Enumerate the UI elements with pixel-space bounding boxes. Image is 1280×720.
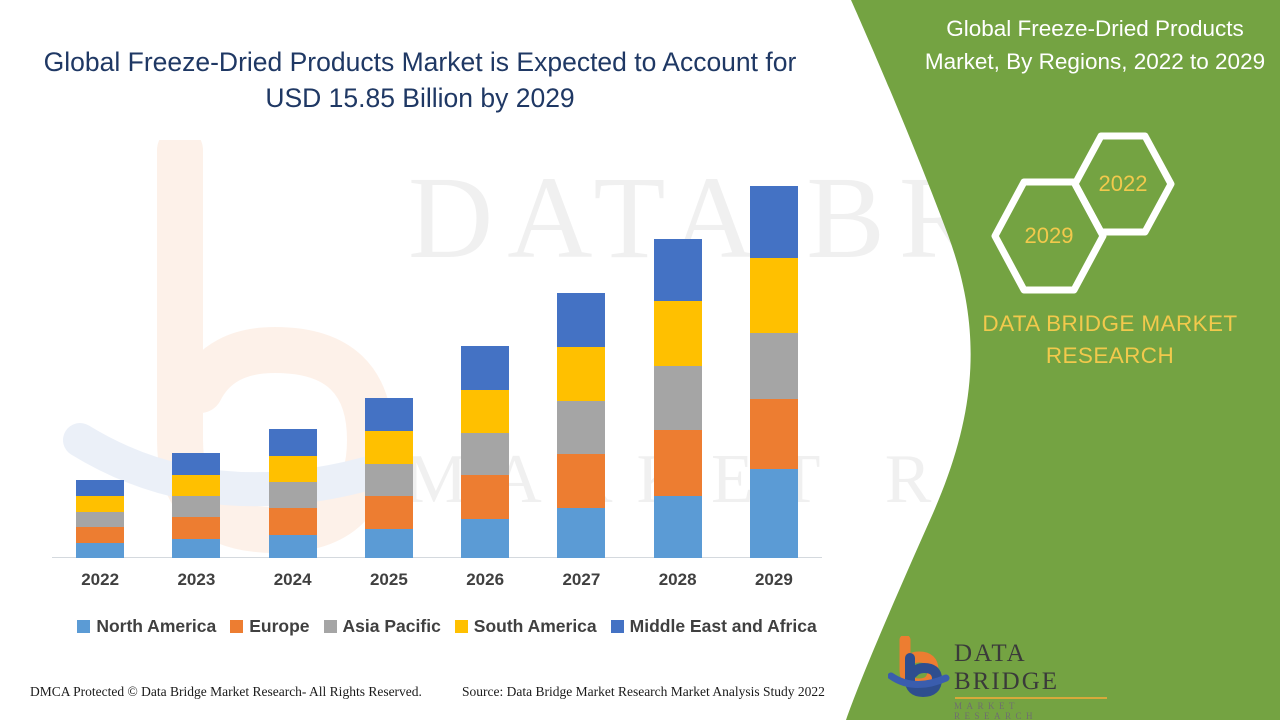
bar-segment-europe [461,475,509,519]
legend-item-middle-east-and-africa[interactable]: Middle East and Africa [611,616,817,637]
data-bridge-logo-icon [888,636,950,698]
bar-segment-south-america [557,347,605,401]
bar-column-2023 [148,150,244,558]
logo-primary-text: DATA BRIDGE [954,640,1107,696]
bar-column-2025 [341,150,437,558]
bar-segment-north-america [76,543,124,558]
bar-column-2029 [726,150,822,558]
bar-segment-south-america [654,301,702,366]
bar-segment-south-america [750,258,798,333]
hexagon-badge-2029: 2029 [988,176,1110,296]
stacked-bar-chart [52,150,822,558]
bar-segment-asia-pacific [269,482,317,508]
bar-segment-north-america [461,519,509,558]
stacked-bar [172,453,220,558]
logo-secondary-text: MARKET RESEARCH [954,701,1107,720]
hexagon-label-2022: 2022 [1099,171,1148,197]
bar-segment-europe [269,508,317,535]
legend-swatch-icon [230,620,243,633]
stacked-bar [365,398,413,558]
bar-segment-middle-east-and-africa [76,480,124,496]
infographic-canvas: DATA BRIDGE MARKET RESEARCH Global Freez… [0,0,1280,720]
bar-segment-middle-east-and-africa [269,429,317,456]
company-logo: DATA BRIDGE MARKET RESEARCH [888,636,1103,702]
stacked-bar [269,429,317,558]
bar-column-2028 [630,150,726,558]
legend-label: Asia Pacific [343,616,441,637]
x-axis-label-2027: 2027 [533,570,629,590]
bar-segment-asia-pacific [654,366,702,430]
chart-legend: North AmericaEuropeAsia PacificSouth Ame… [52,616,842,637]
bar-segment-middle-east-and-africa [750,186,798,258]
bar-segment-south-america [461,390,509,433]
bar-segment-south-america [269,456,317,482]
bar-segment-asia-pacific [76,512,124,527]
brand-name: DATA BRIDGE MARKET RESEARCH [960,308,1260,372]
bar-segment-south-america [76,496,124,512]
bar-segment-asia-pacific [750,333,798,399]
bar-segment-asia-pacific [172,496,220,517]
legend-swatch-icon [611,620,624,633]
bar-segment-south-america [365,431,413,464]
bar-column-2026 [437,150,533,558]
legend-label: South America [474,616,597,637]
legend-label: North America [96,616,216,637]
legend-label: Europe [249,616,309,637]
stacked-bar [76,480,124,558]
legend-item-north-america[interactable]: North America [77,616,216,637]
hexagon-label-2029: 2029 [1025,223,1074,249]
bar-segment-middle-east-and-africa [557,293,605,347]
panel-title: Global Freeze-Dried Products Market, By … [920,12,1270,78]
bar-column-2022 [52,150,148,558]
legend-item-asia-pacific[interactable]: Asia Pacific [324,616,441,637]
x-axis-label-2026: 2026 [437,570,533,590]
bar-segment-middle-east-and-africa [461,346,509,390]
bar-segment-europe [172,517,220,539]
stacked-bar [654,239,702,558]
bar-segment-north-america [557,508,605,558]
legend-swatch-icon [455,620,468,633]
page-title: Global Freeze-Dried Products Market is E… [40,44,800,116]
legend-swatch-icon [324,620,337,633]
bar-column-2027 [533,150,629,558]
x-axis-label-2022: 2022 [52,570,148,590]
logo-divider [955,697,1107,699]
chart-x-axis-labels: 20222023202420252026202720282029 [52,570,822,590]
bar-segment-middle-east-and-africa [172,453,220,475]
bar-segment-north-america [654,496,702,558]
year-hexagon-group: 2022 2029 [980,130,1210,295]
bar-segment-north-america [269,535,317,558]
bar-segment-north-america [365,529,413,558]
bar-column-2024 [245,150,341,558]
stacked-bar [750,186,798,558]
x-axis-label-2025: 2025 [341,570,437,590]
footer-copyright: DMCA Protected © Data Bridge Market Rese… [30,684,422,700]
bar-segment-europe [654,430,702,496]
legend-swatch-icon [77,620,90,633]
bar-segment-middle-east-and-africa [654,239,702,301]
x-axis-label-2029: 2029 [726,570,822,590]
bar-segment-asia-pacific [461,433,509,475]
bar-segment-middle-east-and-africa [365,398,413,431]
stacked-bar [557,293,605,558]
bar-segment-europe [557,454,605,508]
legend-label: Middle East and Africa [630,616,817,637]
logo-wordmark: DATA BRIDGE MARKET RESEARCH [954,640,1107,720]
bar-segment-north-america [750,469,798,558]
bar-segment-europe [750,399,798,469]
legend-item-south-america[interactable]: South America [455,616,597,637]
legend-item-europe[interactable]: Europe [230,616,309,637]
bar-segment-asia-pacific [557,401,605,454]
footer-source: Source: Data Bridge Market Research Mark… [462,684,825,700]
x-axis-label-2028: 2028 [630,570,726,590]
bar-segment-asia-pacific [365,464,413,496]
x-axis-label-2024: 2024 [245,570,341,590]
stacked-bar [461,346,509,558]
bar-segment-north-america [172,539,220,558]
x-axis-label-2023: 2023 [148,570,244,590]
bar-segment-south-america [172,475,220,496]
bar-segment-europe [76,527,124,543]
bar-segment-europe [365,496,413,529]
